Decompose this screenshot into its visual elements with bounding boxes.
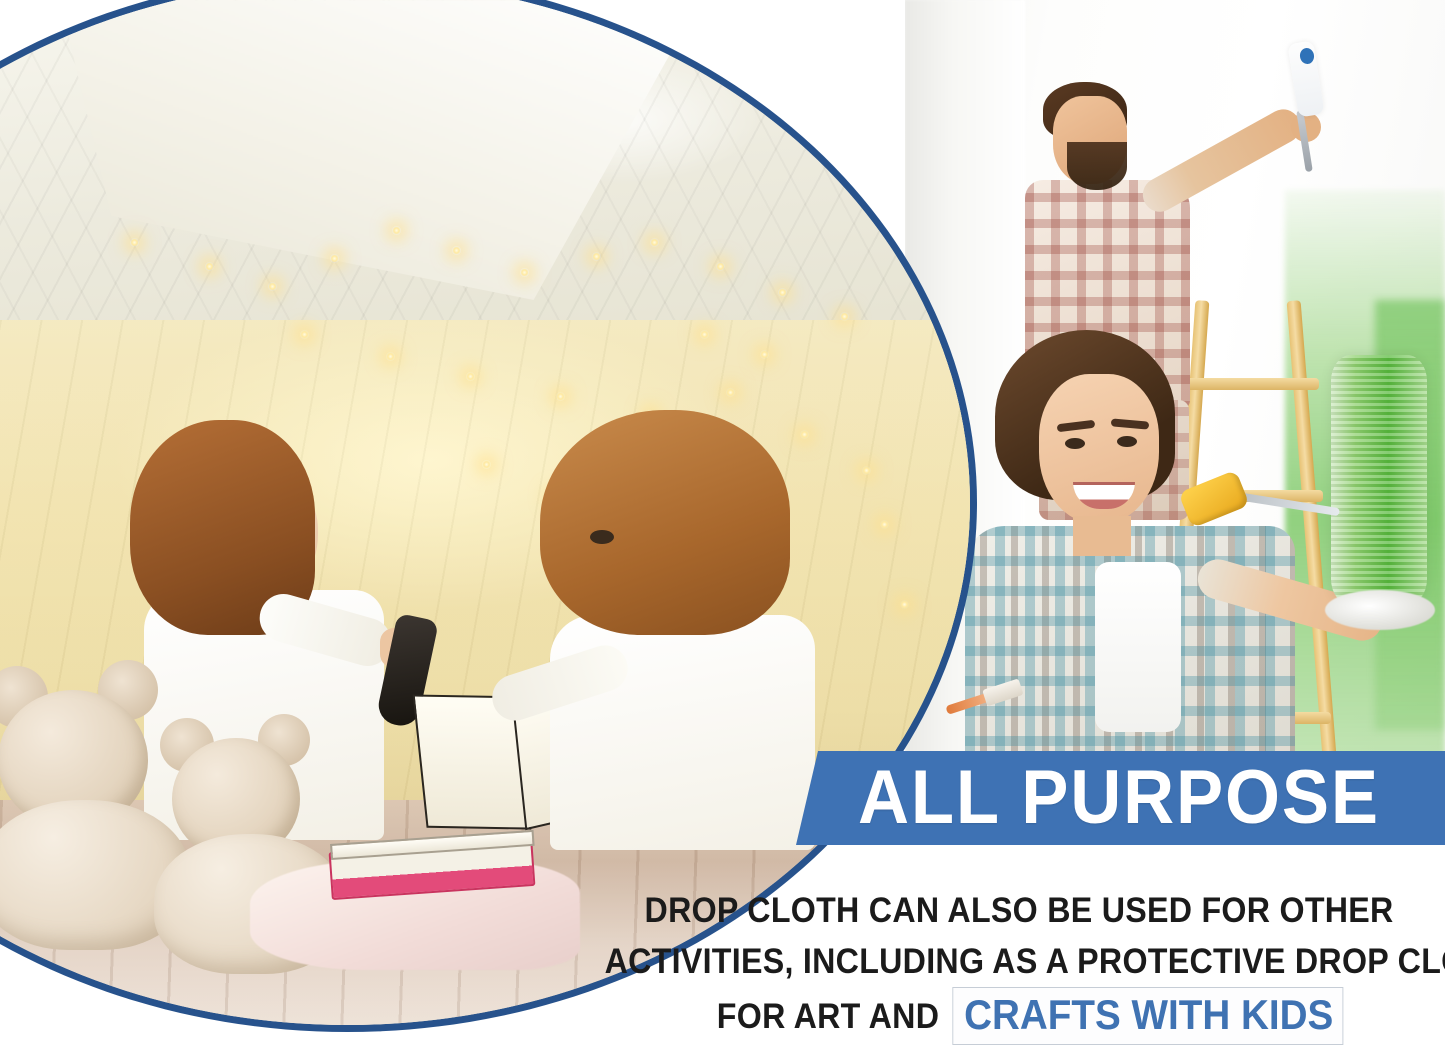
woman-eye bbox=[1065, 438, 1085, 449]
kids-fort-photo bbox=[0, 0, 970, 1025]
caption-line-3-prefix: FOR ART AND bbox=[717, 991, 939, 1042]
child-right-eye bbox=[590, 530, 614, 544]
child-right-hair bbox=[540, 410, 790, 635]
child-right-reading bbox=[520, 410, 850, 850]
green-paint-roller bbox=[1331, 355, 1427, 605]
couple-painting-photo bbox=[905, 0, 1445, 790]
caption-line-3: FOR ART AND CRAFTS WITH KIDS bbox=[595, 987, 1409, 1045]
caption-highlight-crafts-with-kids: CRAFTS WITH KIDS bbox=[952, 987, 1343, 1045]
caption-block: DROP CLOTH CAN ALSO BE USED FOR OTHER AC… bbox=[560, 885, 1445, 1055]
woman-neck bbox=[1073, 516, 1131, 556]
man-beard bbox=[1067, 142, 1127, 190]
woman-eye bbox=[1117, 436, 1137, 447]
woman-holding-roller bbox=[965, 330, 1385, 790]
caption-line-2: ACTIVITIES, INCLUDING AS A PROTECTIVE DR… bbox=[595, 936, 1409, 987]
man-raised-arm bbox=[1137, 103, 1307, 218]
marketing-banner-image: ALL PURPOSE DROP CLOTH CAN ALSO BE USED … bbox=[0, 0, 1445, 1055]
banner-headline: ALL PURPOSE bbox=[858, 760, 1380, 836]
roller-end-cap bbox=[1325, 590, 1435, 630]
caption-line-1: DROP CLOTH CAN ALSO BE USED FOR OTHER bbox=[595, 885, 1409, 936]
all-purpose-banner: ALL PURPOSE bbox=[796, 751, 1445, 845]
woman-white-tee bbox=[1095, 562, 1181, 732]
